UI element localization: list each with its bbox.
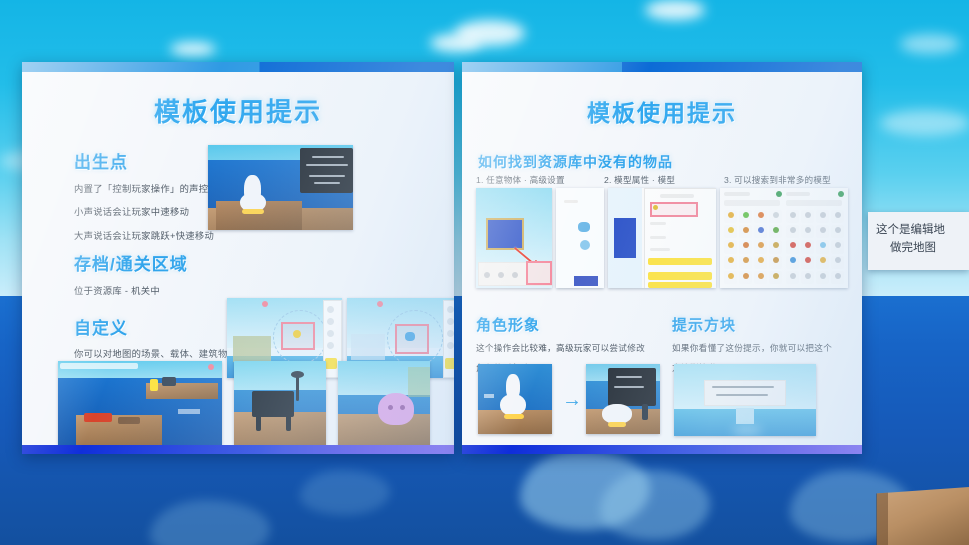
screenshot-step-2 — [608, 188, 716, 288]
panel-right-title: 模板使用提示 — [462, 94, 862, 128]
transform-arrow-icon: → — [562, 390, 582, 410]
screenshot-spawn-point — [208, 145, 353, 230]
tips-panel-left: 模板使用提示 出生点 内置了「控制玩家操作」的声控逻辑 小声说话会让玩家中速移动… — [22, 62, 454, 454]
tips-panel-right: 模板使用提示 如何找到资源库中没有的物品 1. 任意物体 · 高级设置 2. 模… — [462, 62, 862, 454]
step-3-number: 3. — [724, 175, 732, 185]
floating-note-line-2: 做完地图 — [876, 240, 969, 258]
section-hint-line-1: 如果你看懂了这份提示，你就可以把这个 — [672, 342, 847, 355]
section-save-heading: 存档/通关区域 — [74, 250, 244, 275]
sea-cloud — [300, 470, 390, 515]
screenshot-avatar-after — [586, 364, 660, 434]
cloud — [170, 42, 216, 56]
screenshot-step-1-detail — [556, 188, 604, 288]
cloud — [430, 34, 482, 52]
section-avatar-line-1: 这个操作会比较难，高级玩家可以尝试修改 — [476, 342, 656, 355]
section-avatar-heading: 角色形象 — [476, 314, 656, 335]
screenshot-step-3 — [720, 188, 848, 288]
panel-right-bottombar — [462, 445, 862, 454]
step-2-number: 2. — [604, 175, 612, 185]
screenshot-avatar-before — [478, 364, 552, 434]
panel-left-title: 模板使用提示 — [22, 92, 454, 129]
section-hint-heading: 提示方块 — [672, 314, 847, 335]
sea-cloud — [600, 470, 710, 540]
section-spawn-line-3: 大声说话会让玩家跳跃+快速移动 — [74, 229, 234, 243]
section-save-area: 存档/通关区域 位于资源库 - 机关中 — [74, 250, 244, 298]
screenshot-hint-block — [674, 364, 816, 436]
asset-grid-right — [786, 210, 844, 284]
step-1-text: 任意物体 · 高级设置 — [486, 175, 565, 185]
cloud — [900, 34, 960, 54]
screenshot-custom-pier — [58, 361, 222, 446]
asset-grid-left — [724, 210, 782, 284]
step-2-text: 模型属性 · 模型 — [614, 175, 675, 185]
panel-right-subtitle: 如何找到资源库中没有的物品 — [478, 152, 673, 172]
screenshot-custom-bench — [234, 361, 326, 446]
step-2-caption: 2. 模型属性 · 模型 — [604, 174, 675, 186]
step-3-text: 可以搜索到非常多的模型 — [734, 175, 831, 185]
section-save-line-1: 位于资源库 - 机关中 — [74, 284, 244, 298]
panel-left-bottombar — [22, 445, 454, 454]
step-3-caption: 3. 可以搜索到非常多的模型 — [724, 174, 831, 186]
cloud — [645, 0, 705, 20]
wooden-dock — [877, 487, 969, 545]
screenshot-step-1: ⟶ — [476, 188, 552, 288]
panel-right-topbar — [462, 62, 862, 72]
panel-left-topbar — [22, 62, 454, 72]
step-1-caption: 1. 任意物体 · 高级设置 — [476, 174, 565, 186]
step-1-number: 1. — [476, 175, 484, 185]
floating-note-line-1: 这个是编辑地 — [876, 222, 969, 240]
floating-note-panel: 这个是编辑地 做完地图 — [868, 212, 969, 270]
cloud — [880, 110, 969, 136]
screenshot-custom-slime — [338, 361, 430, 446]
